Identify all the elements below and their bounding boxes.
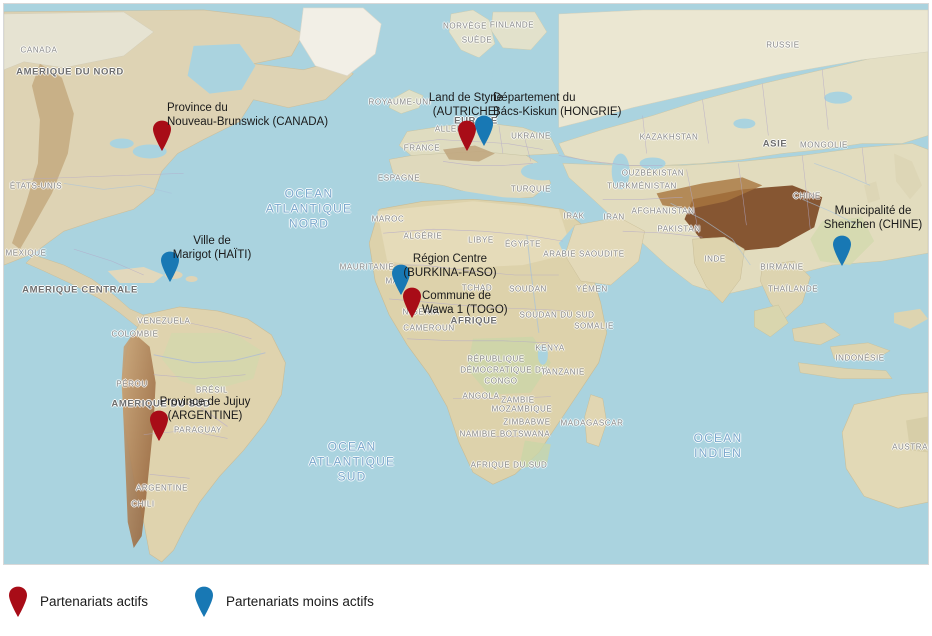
map-pin-icon[interactable] bbox=[832, 235, 852, 266]
map-canvas[interactable]: CANADAÉTATS-UNISMEXIQUEVENEZUELACOLOMBIE… bbox=[3, 3, 929, 565]
map-pin-icon bbox=[8, 586, 28, 617]
map-pin-icon[interactable] bbox=[474, 115, 494, 146]
map-pin-icon[interactable] bbox=[160, 251, 180, 282]
legend-label-active: Partenariats actifs bbox=[40, 594, 148, 609]
map-pin-icon bbox=[194, 586, 214, 617]
map-pin-icon[interactable] bbox=[402, 287, 422, 318]
map-pin-icon[interactable] bbox=[149, 410, 169, 441]
map-legend: Partenariats actifs Partenariats moins a… bbox=[0, 578, 932, 624]
legend-item-active[interactable]: Partenariats actifs bbox=[8, 578, 148, 624]
basemap-graphic bbox=[4, 4, 928, 564]
map-pin-icon[interactable] bbox=[152, 120, 172, 151]
legend-item-less-active[interactable]: Partenariats moins actifs bbox=[194, 578, 374, 624]
world-partnership-map: CANADAÉTATS-UNISMEXIQUEVENEZUELACOLOMBIE… bbox=[0, 0, 932, 636]
legend-label-less-active: Partenariats moins actifs bbox=[226, 594, 374, 609]
